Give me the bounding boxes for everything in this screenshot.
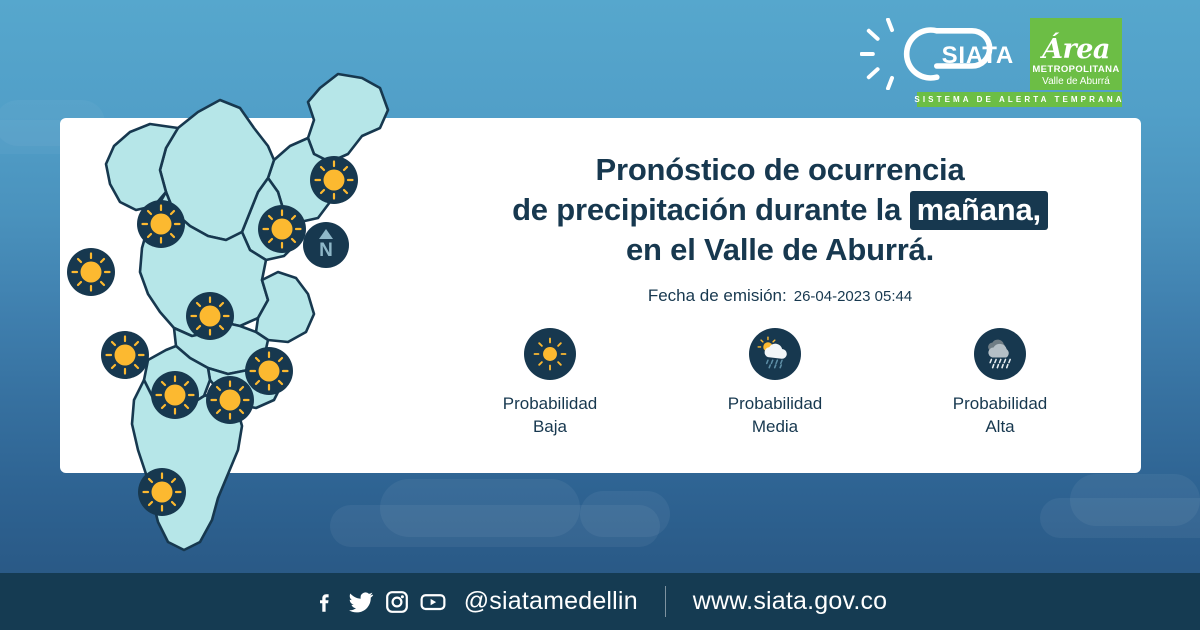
headline-line-1: Pronóstico de ocurrencia — [430, 150, 1130, 190]
emission-value: 26-04-2023 05:44 — [794, 288, 912, 305]
background-cloud-icon — [1040, 498, 1200, 538]
tagline-text: SISTEMA DE ALERTA TEMPRANA — [914, 95, 1124, 104]
background-cloud-icon — [330, 505, 660, 547]
emission-label: Fecha de emisión: — [648, 286, 787, 306]
logo-group: SIATA Área METROPOLITANA Valle de Aburrá — [860, 18, 1122, 90]
area-line-1: METROPOLITANA — [1032, 65, 1119, 76]
legend-label-media: Probabilidad Media — [728, 393, 823, 439]
legend-label-alta: Probabilidad Alta — [953, 393, 1048, 439]
probability-legend: Probabilidad Baja — [455, 328, 1095, 439]
poster-root: SIATA Área METROPOLITANA Valle de Aburrá… — [0, 0, 1200, 630]
legend-item-baja: Probabilidad Baja — [455, 328, 645, 439]
headline-highlight: mañana, — [910, 191, 1048, 230]
youtube-icon[interactable] — [420, 591, 446, 613]
tagline-strip: SISTEMA DE ALERTA TEMPRANA — [917, 92, 1122, 107]
headline-line-2: de precipitación durante la mañana, — [430, 190, 1130, 230]
sun-rain-cloud-icon — [749, 328, 801, 380]
instagram-icon[interactable] — [385, 590, 409, 614]
headline-line-3: en el Valle de Aburrá. — [430, 230, 1130, 270]
twitter-icon[interactable] — [348, 589, 374, 615]
headline-line-2-text: de precipitación durante la — [512, 192, 910, 227]
facebook-icon[interactable] — [313, 590, 337, 614]
headline-block: Pronóstico de ocurrencia de precipitació… — [430, 150, 1130, 306]
legend-item-media: Probabilidad Media — [680, 328, 870, 439]
legend-label-baja: Probabilidad Baja — [503, 393, 598, 439]
area-metropolitana-logo: Área METROPOLITANA Valle de Aburrá — [1030, 18, 1122, 90]
siata-logo: SIATA — [860, 18, 1020, 90]
area-line-2: Valle de Aburrá — [1042, 76, 1110, 88]
sun-icon — [524, 328, 576, 380]
footer-divider — [665, 586, 666, 617]
area-wordmark: Área — [1042, 36, 1110, 63]
legend-item-alta: Probabilidad Alta — [905, 328, 1095, 439]
rain-cloud-icon — [974, 328, 1026, 380]
svg-text:SIATA: SIATA — [942, 42, 1014, 69]
page-title: Pronóstico de ocurrencia de precipitació… — [430, 150, 1130, 270]
emission-date: Fecha de emisión: 26-04-2023 05:44 — [430, 286, 1130, 306]
footer-bar: @siatamedellin www.siata.gov.co — [0, 573, 1200, 630]
social-icons — [313, 589, 446, 615]
social-handle[interactable]: @siatamedellin — [464, 587, 638, 616]
website-url[interactable]: www.siata.gov.co — [693, 587, 887, 616]
